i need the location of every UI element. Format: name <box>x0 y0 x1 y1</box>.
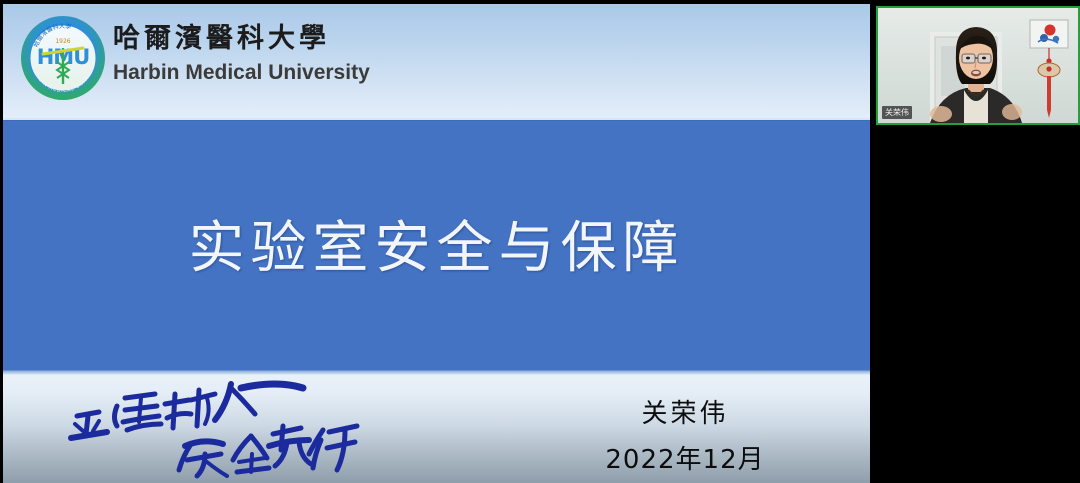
university-wordmark: 哈爾濱醫科大學 Harbin Medical University <box>113 22 533 87</box>
university-name-cn: 哈爾濱醫科大學 <box>113 22 533 56</box>
calligraphy-motto <box>55 374 375 483</box>
presenter-block: 关荣伟 2022年12月 <box>555 394 815 480</box>
slide-header: 哈爾濱醫科大學 1926 HMU HARBIN MEDICAL UNIVERSI… <box>3 4 870 118</box>
slide-footer: 关荣伟 2022年12月 <box>3 368 870 483</box>
presentation-date: 2022年12月 <box>555 440 815 480</box>
shared-slide: 哈爾濱醫科大學 1926 HMU HARBIN MEDICAL UNIVERSI… <box>3 4 870 483</box>
participant-name-tag: 关荣伟 <box>882 106 912 119</box>
university-name-en: Harbin Medical University <box>113 59 533 87</box>
participant-video-tile[interactable]: 关荣伟 <box>876 6 1080 125</box>
hmu-circular-emblem-icon: 哈爾濱醫科大學 1926 HMU HARBIN MEDICAL UNIVERSI… <box>17 12 109 104</box>
presenter-name: 关荣伟 <box>555 394 815 434</box>
slide-title-band: 实验室安全与保障 <box>3 120 870 369</box>
meeting-screen: 哈爾濱醫科大學 1926 HMU HARBIN MEDICAL UNIVERSI… <box>0 0 1080 483</box>
slide-title: 实验室安全与保障 <box>3 203 870 284</box>
svg-text:1926: 1926 <box>55 38 70 45</box>
